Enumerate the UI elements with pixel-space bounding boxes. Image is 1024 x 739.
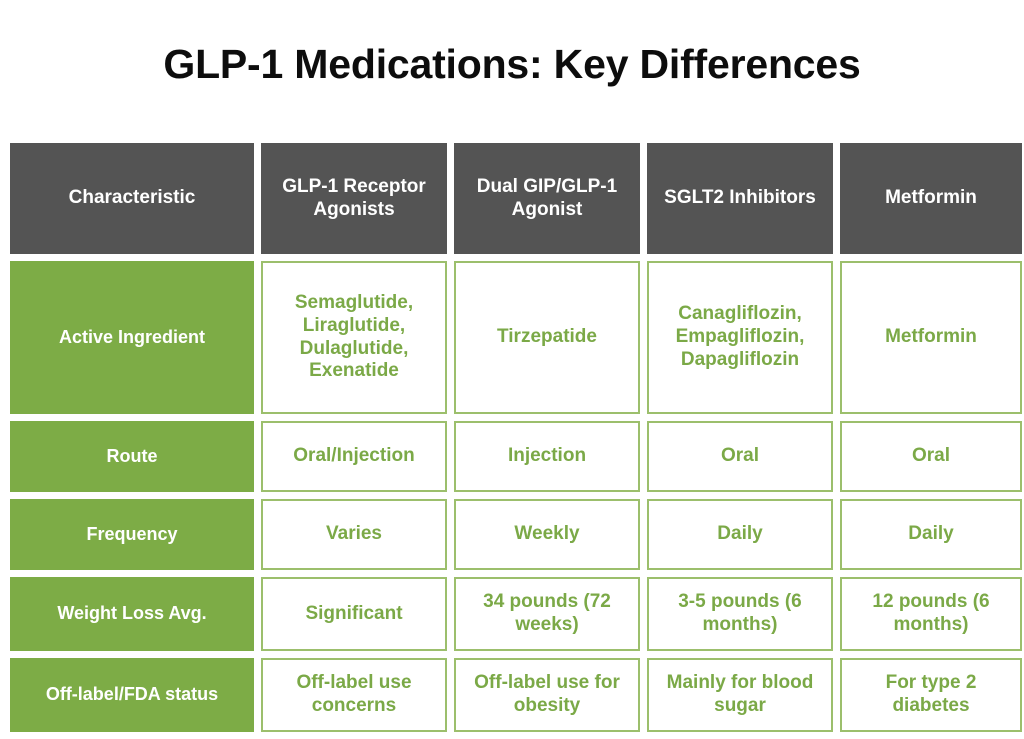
header-cell-characteristic: Characteristic bbox=[10, 143, 254, 254]
cell-weight-loss-sglt2: 3-5 pounds (6 months) bbox=[647, 577, 833, 651]
header-cell-metformin: Metformin bbox=[840, 143, 1022, 254]
cell-weight-loss-dual: 34 pounds (72 weeks) bbox=[454, 577, 640, 651]
page-title: GLP-1 Medications: Key Differences bbox=[0, 42, 1024, 87]
table-row: Weight Loss Avg. Significant 34 pounds (… bbox=[10, 577, 1022, 651]
table-row: Route Oral/Injection Injection Oral Oral bbox=[10, 421, 1022, 492]
cell-route-metformin: Oral bbox=[840, 421, 1022, 492]
cell-active-ingredient-dual: Tirzepatide bbox=[454, 261, 640, 414]
cell-frequency-glp1: Varies bbox=[261, 499, 447, 570]
cell-weight-loss-metformin: 12 pounds (6 months) bbox=[840, 577, 1022, 651]
cell-active-ingredient-sglt2: Canagliflozin, Empagliflozin, Dapagliflo… bbox=[647, 261, 833, 414]
row-label-route: Route bbox=[10, 421, 254, 492]
row-label-off-label-fda-status: Off-label/FDA status bbox=[10, 658, 254, 732]
table-row: Off-label/FDA status Off-label use conce… bbox=[10, 658, 1022, 732]
slide-canvas: GLP-1 Medications: Key Differences Chara… bbox=[0, 0, 1024, 696]
cell-route-sglt2: Oral bbox=[647, 421, 833, 492]
comparison-table: Characteristic GLP-1 Receptor Agonists D… bbox=[3, 136, 1024, 739]
table-header-row: Characteristic GLP-1 Receptor Agonists D… bbox=[10, 143, 1022, 254]
cell-off-label-metformin: For type 2 diabetes bbox=[840, 658, 1022, 732]
cell-frequency-metformin: Daily bbox=[840, 499, 1022, 570]
header-cell-dual-gip-glp1-agonist: Dual GIP/GLP-1 Agonist bbox=[454, 143, 640, 254]
cell-active-ingredient-glp1: Semaglutide, Liraglutide, Dulaglutide, E… bbox=[261, 261, 447, 414]
cell-weight-loss-glp1: Significant bbox=[261, 577, 447, 651]
table-body: Active Ingredient Semaglutide, Liragluti… bbox=[10, 261, 1022, 732]
row-label-active-ingredient: Active Ingredient bbox=[10, 261, 254, 414]
cell-frequency-dual: Weekly bbox=[454, 499, 640, 570]
cell-active-ingredient-metformin: Metformin bbox=[840, 261, 1022, 414]
cell-frequency-sglt2: Daily bbox=[647, 499, 833, 570]
header-cell-sglt2-inhibitors: SGLT2 Inhibitors bbox=[647, 143, 833, 254]
cell-route-glp1: Oral/Injection bbox=[261, 421, 447, 492]
cell-off-label-dual: Off-label use for obesity bbox=[454, 658, 640, 732]
table-row: Frequency Varies Weekly Daily Daily bbox=[10, 499, 1022, 570]
row-label-weight-loss-avg: Weight Loss Avg. bbox=[10, 577, 254, 651]
table-header: Characteristic GLP-1 Receptor Agonists D… bbox=[10, 143, 1022, 254]
header-cell-glp1-receptor-agonists: GLP-1 Receptor Agonists bbox=[261, 143, 447, 254]
row-label-frequency: Frequency bbox=[10, 499, 254, 570]
cell-off-label-glp1: Off-label use concerns bbox=[261, 658, 447, 732]
cell-off-label-sglt2: Mainly for blood sugar bbox=[647, 658, 833, 732]
table-row: Active Ingredient Semaglutide, Liragluti… bbox=[10, 261, 1022, 414]
cell-route-dual: Injection bbox=[454, 421, 640, 492]
